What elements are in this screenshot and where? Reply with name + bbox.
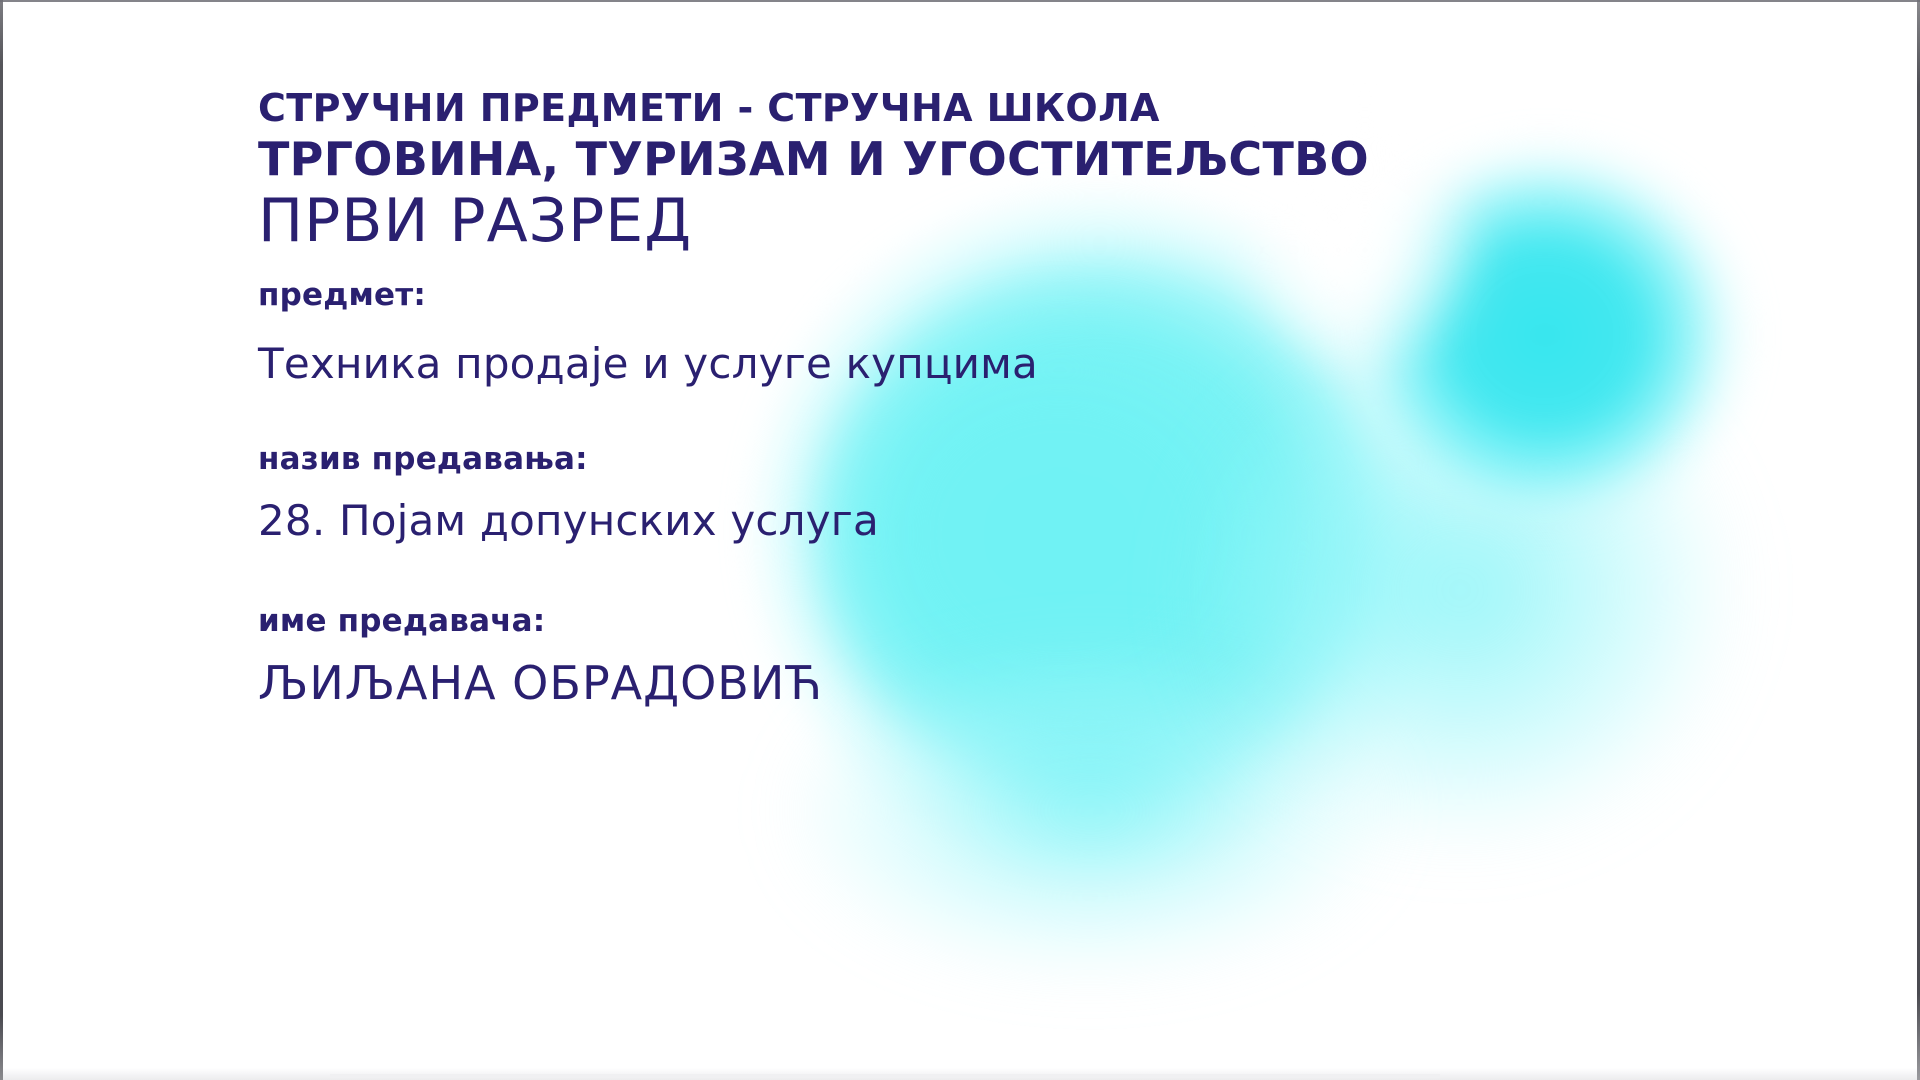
grade-heading: ПРВИ РАЗРЕД [258, 188, 1369, 255]
program-heading: ТРГОВИНА, ТУРИЗАМ И УГОСТИТЕЉСТВО [258, 133, 1369, 186]
lecture-title: 28. Појам допунских услуга [258, 496, 1369, 546]
teacher-name: ЉИЉАНА ОБРАДОВИЋ [258, 656, 1369, 711]
lecture-label: назив предавања: [258, 441, 1369, 478]
frame-edge-left [0, 0, 3, 1080]
teacher-label: име предавача: [258, 603, 1369, 640]
subject-value: Техника продаје и услуге купцима [258, 339, 1369, 389]
subject-label: предмет: [258, 277, 1369, 314]
teal-blob-secondary [1335, 135, 1755, 535]
course-category-heading: СТРУЧНИ ПРЕДМЕТИ - СТРУЧНА ШКОЛА [258, 86, 1369, 131]
frame-edge-bottom [0, 1068, 1920, 1080]
slide-text-block: СТРУЧНИ ПРЕДМЕТИ - СТРУЧНА ШКОЛА ТРГОВИН… [258, 86, 1369, 711]
frame-edge-top [0, 0, 1920, 2]
title-slide: СТРУЧНИ ПРЕДМЕТИ - СТРУЧНА ШКОЛА ТРГОВИН… [0, 0, 1920, 1080]
